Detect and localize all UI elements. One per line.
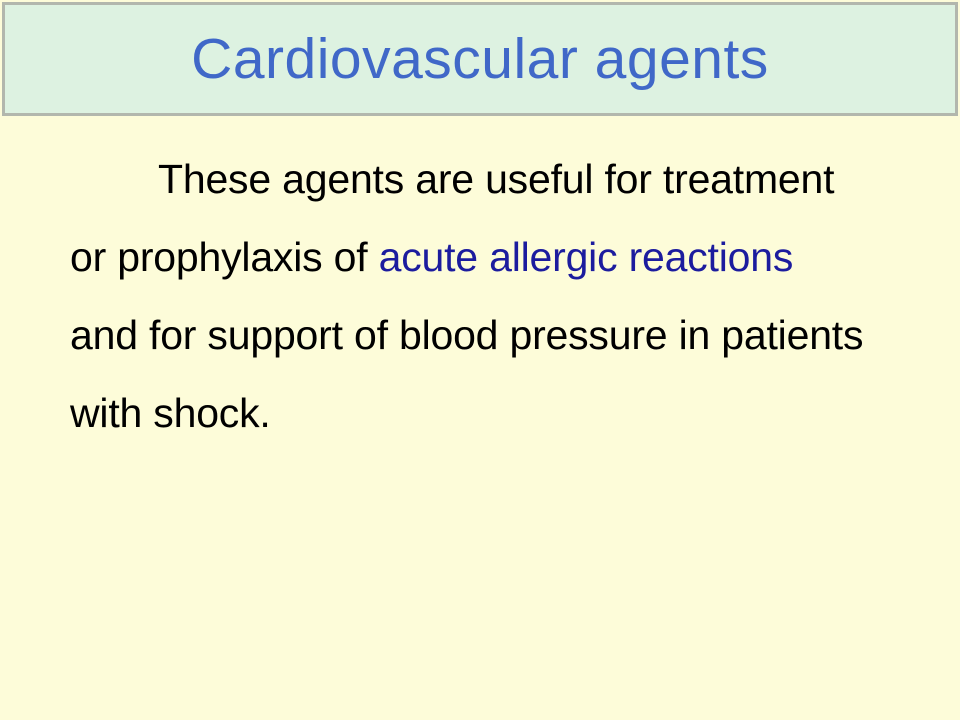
body-line-4: with shock. xyxy=(0,374,960,452)
body-line-1: These agents are useful for treatment xyxy=(0,140,960,218)
body-line-2-accent-text: acute allergic reactions xyxy=(379,234,794,280)
slide-title-box: Cardiovascular agents xyxy=(2,2,958,116)
presentation-slide: Cardiovascular agents These agents are u… xyxy=(0,0,960,720)
slide-title: Cardiovascular agents xyxy=(191,31,769,88)
body-line-2: or prophylaxis of acute allergic reactio… xyxy=(0,218,960,296)
body-line-1-text: These agents are useful for treatment xyxy=(158,156,834,202)
body-line-3: and for support of blood pressure in pat… xyxy=(0,296,960,374)
body-line-2-text: or prophylaxis of xyxy=(70,234,379,280)
body-line-4-text: with shock. xyxy=(70,390,271,436)
slide-body: These agents are useful for treatment or… xyxy=(0,140,960,452)
body-line-3-text: and for support of blood pressure in pat… xyxy=(70,312,863,358)
